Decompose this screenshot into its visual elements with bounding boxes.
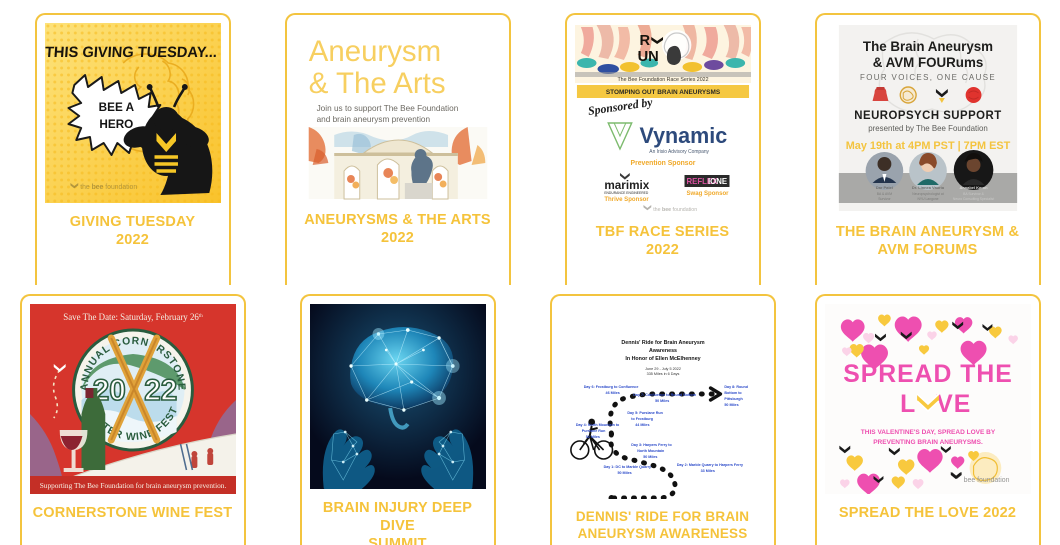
svg-text:the bee foundation: the bee foundation xyxy=(80,184,137,191)
poster-headline: THIS GIVING TUESDAY... xyxy=(45,45,218,61)
svg-text:Day 5: Purslane Run: Day 5: Purslane Run xyxy=(627,411,663,415)
event-card-giving-tuesday[interactable]: THIS GIVING TUESDAY... BEE A HERO xyxy=(35,13,231,285)
svg-text:Supporting The Bee Foundation: Supporting The Bee Foundation for brain … xyxy=(39,481,226,490)
event-caption-spread-the-love: SPREAD THE LOVE 2022 xyxy=(825,494,1031,522)
caption-line-1: SPREAD THE LOVE 2022 xyxy=(827,504,1029,522)
svg-text:NEUROPSYCH SUPPORT: NEUROPSYCH SUPPORT xyxy=(854,110,1001,122)
svg-text:335 Miles in 6 Days: 335 Miles in 6 Days xyxy=(646,372,679,376)
event-thumbnail-avm-forums[interactable]: The Brain Aneurysm & AVM FOURums FOUR VO… xyxy=(825,23,1031,213)
caption-line-1: THE BRAIN ANEURYSM & xyxy=(827,223,1029,241)
svg-text:Vynamic: Vynamic xyxy=(639,123,727,148)
svg-text:BA & AVM: BA & AVM xyxy=(876,192,891,196)
event-caption-cornerstone-wine-fest: CORNERSTONE WINE FEST xyxy=(30,494,236,522)
caption-line-2: ANEURYSM AWARENESS xyxy=(562,526,764,543)
svg-text:June 29 - July 5 2022: June 29 - July 5 2022 xyxy=(645,367,681,371)
svg-text:50 Miles: 50 Miles xyxy=(617,471,631,475)
svg-text:Annabel Karon: Annabel Karon xyxy=(959,185,988,190)
svg-text:FOUR VOICES, ONE CAUSE: FOUR VOICES, ONE CAUSE xyxy=(859,73,995,82)
svg-text:In Honor of Ellen McElhenney: In Honor of Ellen McElhenney xyxy=(625,356,700,362)
event-card-brain-injury-summit[interactable]: BRAIN INJURY DEEP DIVE SUMMIT xyxy=(300,294,496,545)
svg-text:PREVENTING BRAIN ANEURYSMS.: PREVENTING BRAIN ANEURYSMS. xyxy=(873,439,983,446)
svg-text:Dr. Linnea Vaurio: Dr. Linnea Vaurio xyxy=(911,185,944,190)
caption-line-1: BRAIN INJURY DEEP DIVE xyxy=(312,499,484,535)
svg-text:the bee foundation: the bee foundation xyxy=(653,207,697,213)
marimix-logo: marimix ENDURANCE ENGINEERED Thrive Spon… xyxy=(604,173,649,203)
brain-circle-icon xyxy=(900,87,916,103)
svg-text:Neuropsychologist at: Neuropsychologist at xyxy=(912,192,943,196)
svg-text:bee foundation: bee foundation xyxy=(963,477,1009,484)
svg-text:Day 8: Round: Day 8: Round xyxy=(724,385,748,389)
reflexione-logo: REFLEX IONE Swag Sponsor xyxy=(684,175,729,197)
gallery-cell: Aneurysm & The Arts Join us to support T… xyxy=(265,0,530,285)
event-thumbnail-giving-tuesday[interactable]: THIS GIVING TUESDAY... BEE A HERO xyxy=(45,23,221,203)
svg-text:Neuro Consulting Specialist: Neuro Consulting Specialist xyxy=(952,197,993,201)
gallery-cell: Save The Date: Saturday, February 26th xyxy=(0,285,265,545)
svg-text:Thrive Sponsor: Thrive Sponsor xyxy=(604,196,649,203)
speaker-2: Dr. Linnea Vaurio Neuropsychologist at N… xyxy=(909,152,947,201)
event-caption-tbf-race-series: TBF RACE SERIES 2022 xyxy=(575,213,751,259)
gallery-cell: The Brain Aneurysm & AVM FOURums FOUR VO… xyxy=(795,0,1060,285)
caption-line-1: GIVING TUESDAY xyxy=(47,213,219,231)
svg-text:The Bee Foundation Race Series: The Bee Foundation Race Series 2022 xyxy=(617,77,708,83)
svg-text:presented by The Bee Foundatio: presented by The Bee Foundation xyxy=(868,124,988,133)
svg-text:Dennis' Ride for Brain Aneurys: Dennis' Ride for Brain Aneurysm xyxy=(621,340,704,346)
svg-text:and brain aneurysm prevention: and brain aneurysm prevention xyxy=(316,114,430,124)
svg-text:Awareness: Awareness xyxy=(648,348,676,354)
gallery-cell: BRAIN INJURY DEEP DIVE SUMMIT xyxy=(265,285,530,545)
event-thumbnail-brain-injury-summit[interactable] xyxy=(310,304,486,489)
svg-text:Survivor: Survivor xyxy=(878,197,891,201)
gallery-cell: Dennis' Ride for Brain Aneurysm Awarenes… xyxy=(530,285,795,545)
svg-text:HERO: HERO xyxy=(99,117,133,131)
caption-line-2: 2022 xyxy=(297,229,499,247)
svg-text:marimix: marimix xyxy=(604,178,649,192)
svg-text:Day 2: Marble Quarry to Harper: Day 2: Marble Quarry to Harpers Ferry xyxy=(676,463,743,467)
event-caption-brain-injury-summit: BRAIN INJURY DEEP DIVE SUMMIT xyxy=(310,489,486,545)
event-caption-giving-tuesday: GIVING TUESDAY 2022 xyxy=(45,203,221,249)
caption-line-1: CORNERSTONE WINE FEST xyxy=(32,504,234,522)
svg-text:THIS VALENTINE'S DAY, SPREAD L: THIS VALENTINE'S DAY, SPREAD LOVE BY xyxy=(860,429,995,436)
svg-text:to Frostburg: to Frostburg xyxy=(631,417,653,421)
svg-text:May 19th at 4PM PST | 7PM EST: May 19th at 4PM PST | 7PM EST xyxy=(845,140,1010,152)
event-caption-avm-forums: THE BRAIN ANEURYSM & AVM FORUMS xyxy=(825,213,1031,259)
svg-text:L: L xyxy=(900,390,916,418)
svg-text:NYU Langone: NYU Langone xyxy=(917,197,938,201)
svg-text:Join us to support The Bee Fou: Join us to support The Bee Foundation xyxy=(316,103,458,113)
svg-text:Day 7: Confluence to Round Bot: Day 7: Confluence to Round Bottom xyxy=(633,393,696,397)
svg-text:52 Miles: 52 Miles xyxy=(585,435,599,439)
bee-foundation-logo: the bee foundation xyxy=(70,183,137,191)
svg-text:STOMPING OUT BRAIN ANEURYSMS: STOMPING OUT BRAIN ANEURYSMS xyxy=(605,89,720,96)
event-thumbnail-dennis-ride[interactable]: Dennis' Ride for Brain Aneurysm Awarenes… xyxy=(560,304,766,499)
caption-line-1: DENNIS' RIDE FOR BRAIN xyxy=(562,509,764,526)
event-thumbnail-cornerstone-wine-fest[interactable]: Save The Date: Saturday, February 26th xyxy=(30,304,236,494)
event-thumbnail-spread-the-love[interactable]: SPREAD THE L VE THIS VALENTINE'S DAY, SP… xyxy=(825,304,1031,494)
svg-text:Day 4: North Mountain to: Day 4: North Mountain to xyxy=(575,423,619,427)
gallery-cell: SPREAD THE L VE THIS VALENTINE'S DAY, SP… xyxy=(795,285,1060,545)
svg-text:Swag Sponsor: Swag Sponsor xyxy=(686,190,729,197)
caption-line-2: 2022 xyxy=(577,241,749,259)
gallery-cell: R UN The Bee Foundation Race Series 2022… xyxy=(530,0,795,285)
svg-text:An Irisio Advisory Company: An Irisio Advisory Company xyxy=(649,149,709,155)
event-card-spread-the-love[interactable]: SPREAD THE L VE THIS VALENTINE'S DAY, SP… xyxy=(815,294,1041,545)
event-card-aneurysms-arts[interactable]: Aneurysm & The Arts Join us to support T… xyxy=(285,13,511,285)
event-caption-dennis-ride: DENNIS' RIDE FOR BRAIN ANEURYSM AWARENES… xyxy=(560,499,766,543)
svg-text:BA Survivor &: BA Survivor & xyxy=(963,192,984,196)
svg-text:Day 1: DC to Marble Quarry: Day 1: DC to Marble Quarry xyxy=(603,465,651,469)
svg-text:VE: VE xyxy=(936,390,971,418)
event-caption-aneurysms-arts: ANEURYSMS & THE ARTS 2022 xyxy=(295,201,501,247)
svg-text:Prevention Sponsor: Prevention Sponsor xyxy=(630,160,695,167)
caption-line-1: TBF RACE SERIES xyxy=(577,223,749,241)
svg-text:Day 6: Frostburg to Confluence: Day 6: Frostburg to Confluence xyxy=(583,385,638,389)
svg-text:SPREAD THE: SPREAD THE xyxy=(843,360,1012,388)
svg-text:North Mountain: North Mountain xyxy=(637,449,665,453)
caption-line-2: SUMMIT xyxy=(312,535,484,545)
event-card-tbf-race-series[interactable]: R UN The Bee Foundation Race Series 2022… xyxy=(565,13,761,285)
svg-text:ENDURANCE ENGINEERED: ENDURANCE ENGINEERED xyxy=(604,191,648,195)
svg-text:R: R xyxy=(639,33,650,49)
caption-line-2: 2022 xyxy=(47,231,219,249)
events-gallery: THIS GIVING TUESDAY... BEE A HERO xyxy=(0,0,1060,545)
svg-text:44 Miles: 44 Miles xyxy=(635,423,649,427)
svg-text:Purslane Run: Purslane Run xyxy=(581,429,605,433)
caption-line-1: ANEURYSMS & THE ARTS xyxy=(297,211,499,229)
svg-text:50 Miles: 50 Miles xyxy=(643,455,657,459)
poster-title-line2: & The Arts xyxy=(308,67,445,100)
svg-text:Save The Date: Saturday, Febru: Save The Date: Saturday, February 26th xyxy=(63,312,203,322)
svg-text:50 Miles: 50 Miles xyxy=(655,399,669,403)
svg-text:50 Miles: 50 Miles xyxy=(724,403,738,407)
svg-text:Day 3: Harpers Ferry to: Day 3: Harpers Ferry to xyxy=(631,443,672,447)
event-card-avm-forums[interactable]: The Brain Aneurysm & AVM FOURums FOUR VO… xyxy=(815,13,1041,285)
svg-text:UN: UN xyxy=(637,49,658,65)
svg-text:22: 22 xyxy=(144,374,177,407)
svg-text:IONE: IONE xyxy=(707,177,726,186)
svg-text:Pittsburgh: Pittsburgh xyxy=(724,397,743,401)
red-brain-icon xyxy=(965,87,981,103)
event-card-cornerstone-wine-fest[interactable]: Save The Date: Saturday, February 26th xyxy=(20,294,246,545)
poster-title-line1: Aneurysm xyxy=(308,35,440,68)
svg-text:& AVM FOURums: & AVM FOURums xyxy=(872,55,983,70)
watercolor-illustration xyxy=(308,127,487,199)
gallery-cell: THIS GIVING TUESDAY... BEE A HERO xyxy=(0,0,265,285)
svg-text:Dar Patel: Dar Patel xyxy=(875,185,892,190)
svg-text:46 Miles: 46 Miles xyxy=(605,391,619,395)
svg-text:33 Miles: 33 Miles xyxy=(700,469,714,473)
svg-text:The Brain Aneurysm: The Brain Aneurysm xyxy=(862,39,992,54)
svg-text:BEE A: BEE A xyxy=(98,100,134,114)
event-thumbnail-aneurysms-arts[interactable]: Aneurysm & The Arts Join us to support T… xyxy=(295,23,501,201)
svg-text:Bottom to: Bottom to xyxy=(724,391,742,395)
event-card-dennis-ride[interactable]: Dennis' Ride for Brain Aneurysm Awarenes… xyxy=(550,294,776,545)
caption-line-2: AVM FORUMS xyxy=(827,241,1029,259)
event-thumbnail-tbf-race-series[interactable]: R UN The Bee Foundation Race Series 2022… xyxy=(575,23,751,213)
